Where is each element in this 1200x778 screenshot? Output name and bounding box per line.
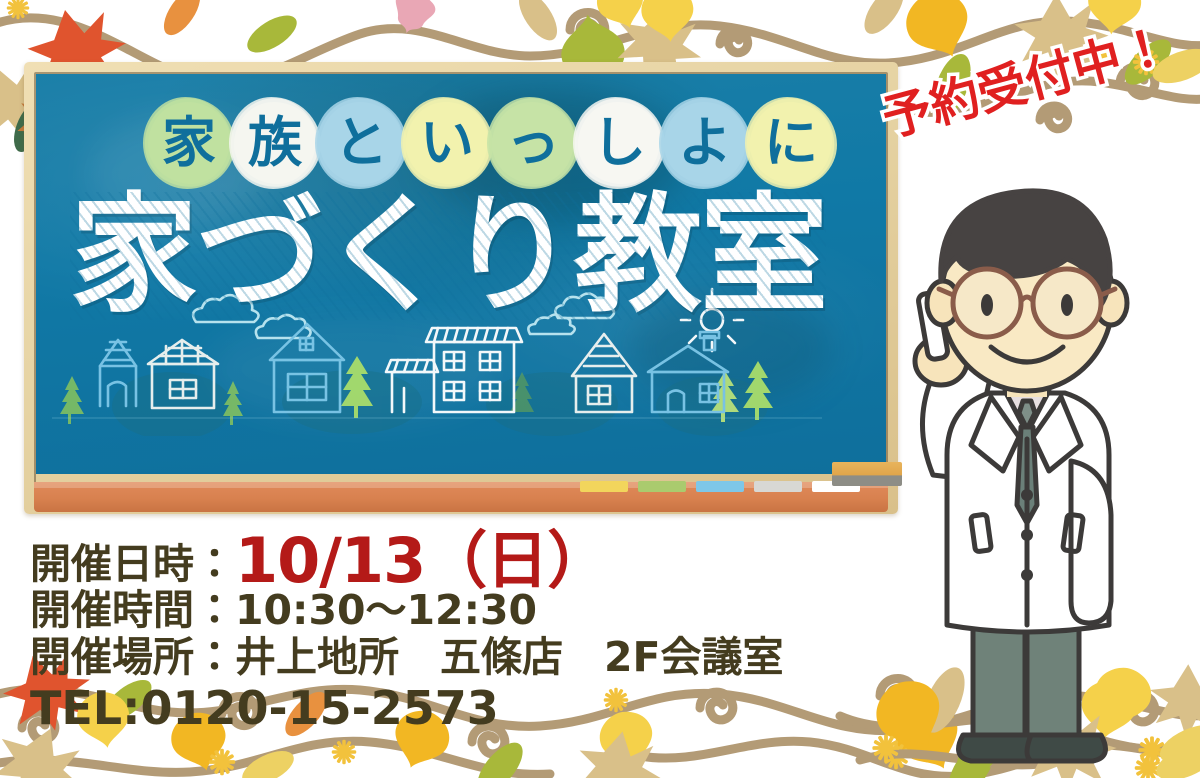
coat-button <box>1021 489 1033 501</box>
title-char: づ <box>196 192 322 320</box>
blackboard-subtitle: 家 族 と い っ <box>148 102 832 184</box>
title-char: く <box>322 192 448 320</box>
info-label-place: 開催場所： <box>30 636 235 679</box>
subtitle-glyph: っ <box>506 116 560 170</box>
info-value-date: 10/13（日） <box>235 532 608 591</box>
subtitle-glyph: 族 <box>248 116 302 170</box>
reservation-banner: 予約受付中！ <box>878 21 1175 144</box>
coat-arm-right <box>1071 461 1111 623</box>
subtitle-char: っ <box>492 102 574 184</box>
title-char: り <box>448 192 574 320</box>
shoe-right <box>1027 735 1106 761</box>
title-char: 室 <box>700 192 826 320</box>
chalk-yellow <box>580 481 628 492</box>
title-char: 教 <box>574 192 700 320</box>
info-label-time: 開催時間： <box>30 589 235 632</box>
coat-button <box>1021 529 1033 541</box>
title-char: 家 <box>70 192 196 320</box>
staff-character <box>855 175 1200 778</box>
chalk-gray <box>754 481 802 492</box>
info-value-tel[interactable]: TEL:0120-15-2573 <box>30 684 499 733</box>
subtitle-char: し <box>578 102 660 184</box>
chalk-green <box>638 481 686 492</box>
info-line-date: 開催日時： 10/13（日） <box>30 528 784 587</box>
subtitle-char: い <box>406 102 488 184</box>
subtitle-char: よ <box>664 102 746 184</box>
subtitle-glyph: し <box>592 116 646 170</box>
subtitle-glyph: に <box>764 116 818 170</box>
blackboard-title: 家 づ く り 教 室 <box>70 192 826 320</box>
subtitle-glyph: よ <box>678 116 732 170</box>
eye-left <box>981 294 993 316</box>
reservation-banner-text: 予約受付中！ <box>877 17 1176 148</box>
chalk-blue <box>696 481 744 492</box>
event-info: 開催日時： 10/13（日） 開催時間： 10:30〜12:30 開催場所： 井… <box>30 528 784 733</box>
poster-root: 家 族 と い っ <box>0 0 1200 778</box>
info-value-place: 井上地所 五條店 2F会議室 <box>235 636 784 679</box>
subtitle-char: と <box>320 102 402 184</box>
eye-right <box>1061 294 1073 316</box>
blackboard-surface: 家 族 と い っ <box>36 74 886 474</box>
subtitle-glyph: と <box>334 116 388 170</box>
subtitle-glyph: 家 <box>162 116 216 170</box>
info-label-date: 開催日時： <box>30 543 235 586</box>
subtitle-char: 家 <box>148 102 230 184</box>
tree-icon <box>60 376 84 424</box>
blackboard: 家 族 と い っ <box>24 62 898 514</box>
coat-button <box>1021 569 1033 581</box>
info-line-place: 開催場所： 井上地所 五條店 2F会議室 <box>30 636 784 679</box>
subtitle-char: 族 <box>234 102 316 184</box>
subtitle-char: に <box>750 102 832 184</box>
info-line-tel[interactable]: TEL:0120-15-2573 <box>30 684 784 733</box>
subtitle-glyph: い <box>420 116 474 170</box>
